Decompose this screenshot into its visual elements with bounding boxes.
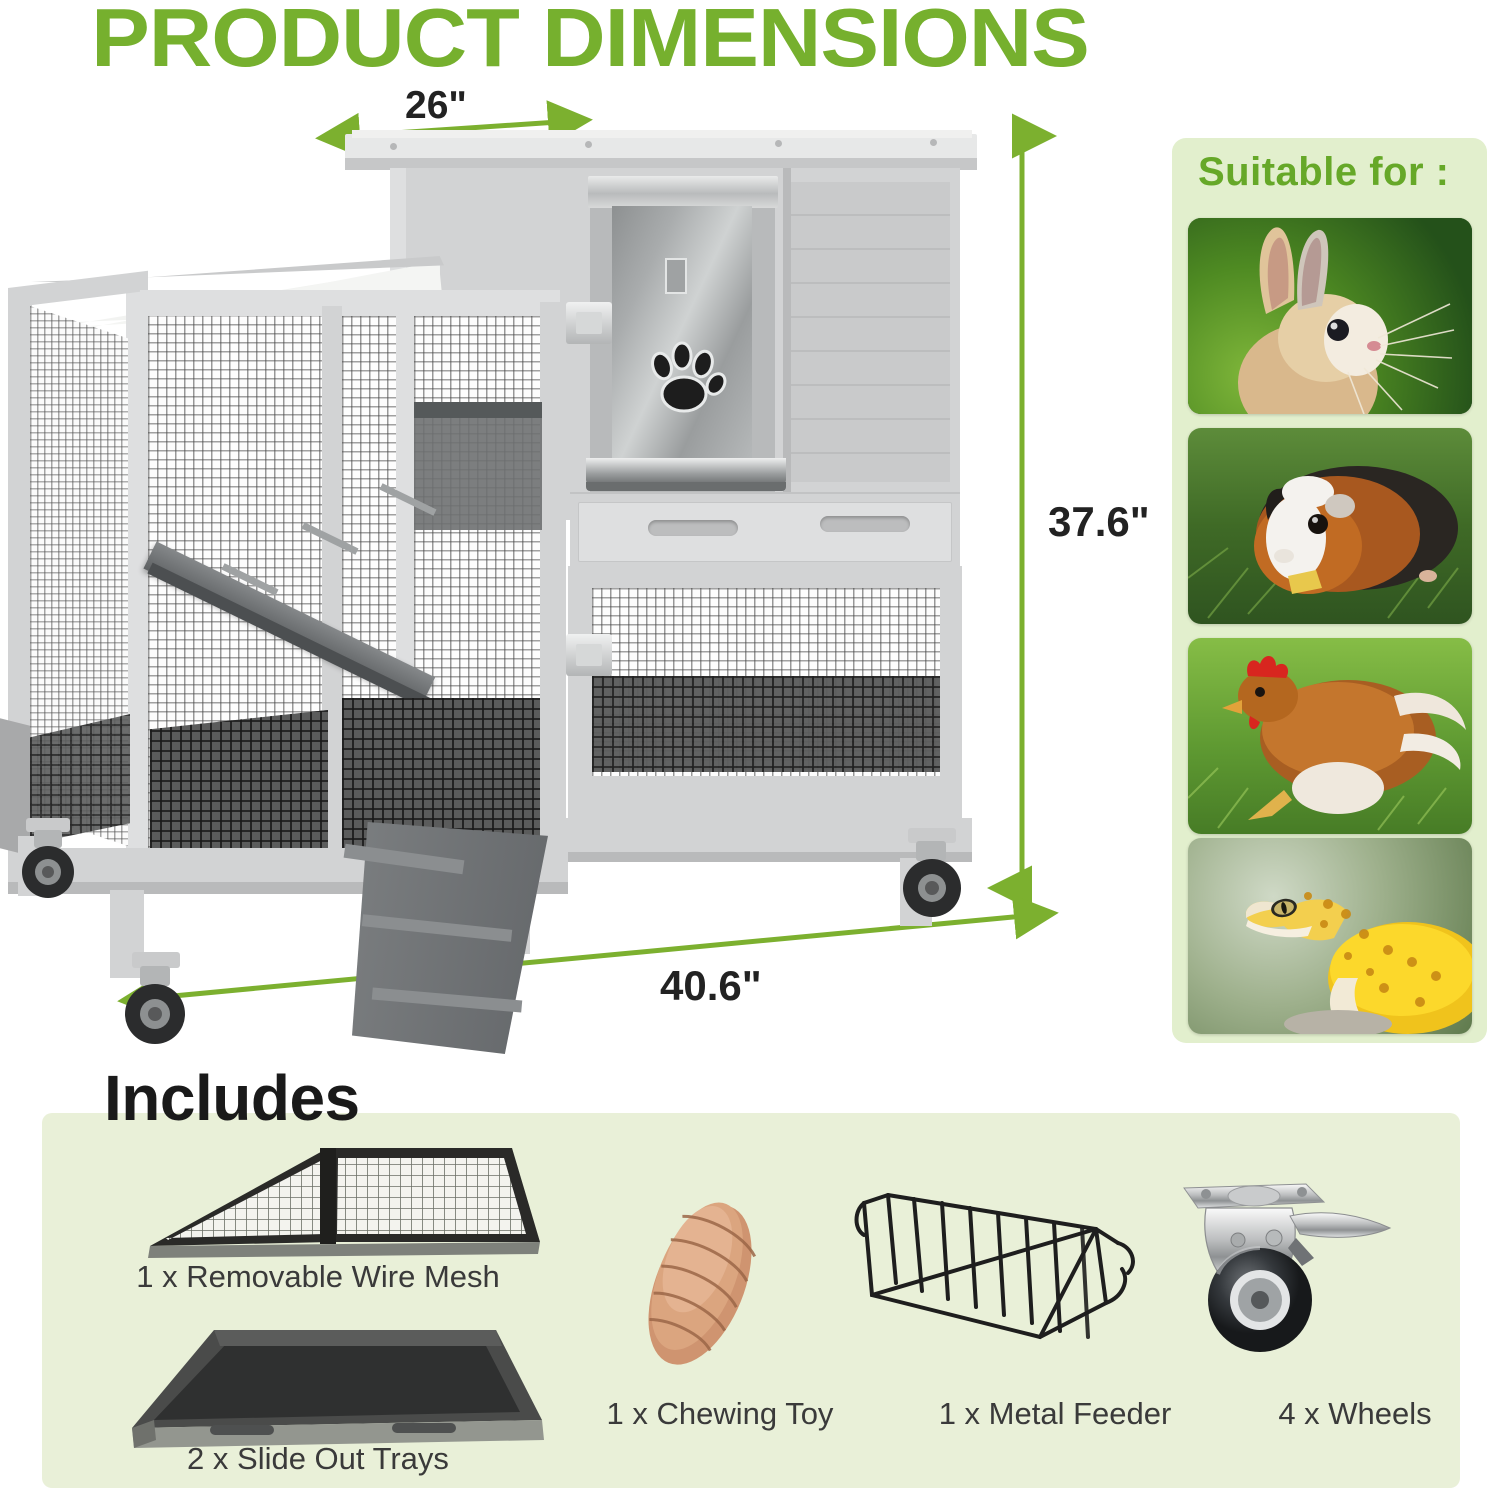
includes-caption-wheels: 4 x Wheels — [1230, 1396, 1480, 1432]
caster-wheel-icon — [8, 818, 88, 910]
page-title: PRODUCT DIMENSIONS — [0, 0, 1215, 86]
includes-caption-wire-mesh: 1 x Removable Wire Mesh — [98, 1259, 538, 1295]
animal-photo-guinea-pig — [1188, 428, 1472, 624]
drawer-handle — [820, 516, 910, 532]
includes-item-wheels — [1178, 1182, 1413, 1367]
animal-photo-lizard — [1188, 838, 1472, 1034]
animal-photo-rabbit — [1188, 218, 1472, 414]
includes-item-removable-wire-mesh — [92, 1142, 548, 1260]
animal-photo-chicken — [1188, 638, 1472, 834]
includes-caption-metal-feeder: 1 x Metal Feeder — [905, 1396, 1205, 1432]
includes-caption-slide-out-trays: 2 x Slide Out Trays — [98, 1441, 538, 1477]
caster-wheel-icon — [888, 828, 976, 924]
product-image — [0, 110, 1030, 1070]
includes-title: Includes — [104, 1061, 360, 1135]
includes-item-chewing-toy — [610, 1190, 790, 1380]
paw-print-icon — [640, 330, 730, 420]
includes-item-slide-out-trays — [92, 1300, 548, 1450]
includes-caption-chewing-toy: 1 x Chewing Toy — [570, 1396, 870, 1432]
includes-item-metal-feeder — [850, 1185, 1140, 1365]
drawer-handle — [648, 520, 738, 536]
height-dimension-label: 37.6" — [1048, 498, 1150, 546]
suitable-for-title: Suitable for : — [1198, 150, 1449, 195]
caster-wheel-icon — [110, 952, 200, 1052]
